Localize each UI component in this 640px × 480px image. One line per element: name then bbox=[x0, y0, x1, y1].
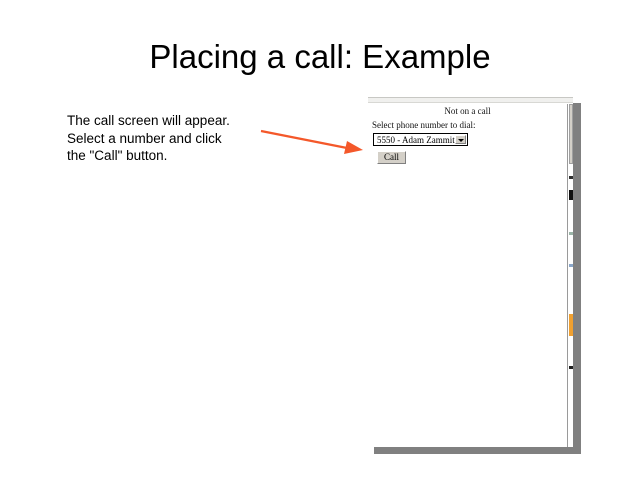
scrollbar-mark bbox=[569, 176, 573, 179]
slide-body-text: The call screen will appear. Select a nu… bbox=[67, 112, 277, 165]
screenshot-shadow-bottom bbox=[374, 447, 581, 454]
app-content-area: Not on a call Select phone number to dia… bbox=[368, 104, 567, 447]
scrollbar-mark bbox=[569, 366, 573, 369]
scrollbar-mark bbox=[569, 264, 573, 267]
app-toolbar-strip bbox=[368, 97, 573, 103]
chevron-down-icon[interactable] bbox=[455, 135, 466, 144]
phone-number-select-value: 5550 - Adam Zammit bbox=[377, 135, 455, 145]
page-title: Placing a call: Example bbox=[0, 38, 640, 76]
scrollbar-mark bbox=[569, 190, 573, 200]
vertical-scrollbar[interactable] bbox=[567, 104, 573, 447]
call-status-text: Not on a call bbox=[368, 106, 567, 116]
scrollbar-mark bbox=[569, 232, 573, 235]
embedded-app-screenshot: Not on a call Select phone number to dia… bbox=[368, 97, 573, 447]
body-line: Select a number and click bbox=[67, 130, 277, 148]
body-line: The call screen will appear. bbox=[67, 112, 277, 130]
scrollbar-mark bbox=[569, 314, 573, 336]
dial-number-label: Select phone number to dial: bbox=[372, 120, 475, 130]
phone-number-select[interactable]: 5550 - Adam Zammit bbox=[373, 133, 468, 146]
body-line: the "Call" button. bbox=[67, 147, 277, 165]
scrollbar-thumb[interactable] bbox=[569, 104, 573, 164]
screenshot-shadow-right bbox=[573, 103, 581, 453]
arrow-head bbox=[344, 141, 363, 154]
call-button[interactable]: Call bbox=[377, 151, 406, 164]
